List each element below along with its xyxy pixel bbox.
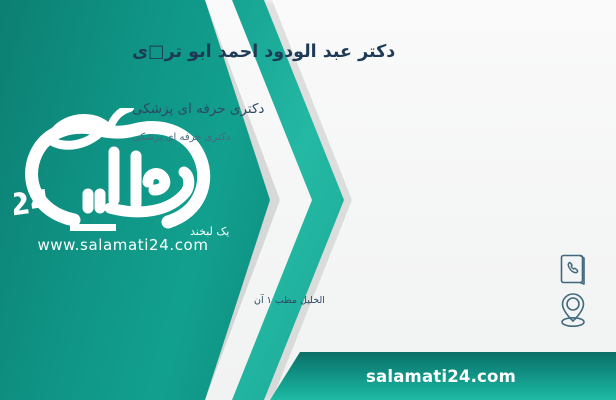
specialty-secondary: دکتری حرفه ای پزشکی — [132, 132, 602, 143]
svg-text:24: 24 — [14, 183, 53, 223]
logo-number-24: 24 — [14, 183, 53, 223]
doctor-name: دکتر عبد الودود احمد ابو تر□ی — [132, 41, 602, 65]
apple-logo-icon: 24 براحتی یک لبخند — [14, 108, 232, 240]
logo-website-url: www.salamati24.com — [14, 236, 232, 254]
phone-book-icon[interactable] — [556, 252, 590, 286]
specialty-primary: دکتری حرفه ای پزشکی — [132, 101, 602, 117]
clinic-address: الخلیل مطب ١ آن — [254, 295, 554, 306]
location-pin-icon[interactable] — [556, 290, 590, 330]
footer-domain[interactable]: salamati24.com — [240, 352, 616, 400]
business-card: 24 براحتی یک لبخند www.salamati24.com دک… — [0, 0, 616, 400]
